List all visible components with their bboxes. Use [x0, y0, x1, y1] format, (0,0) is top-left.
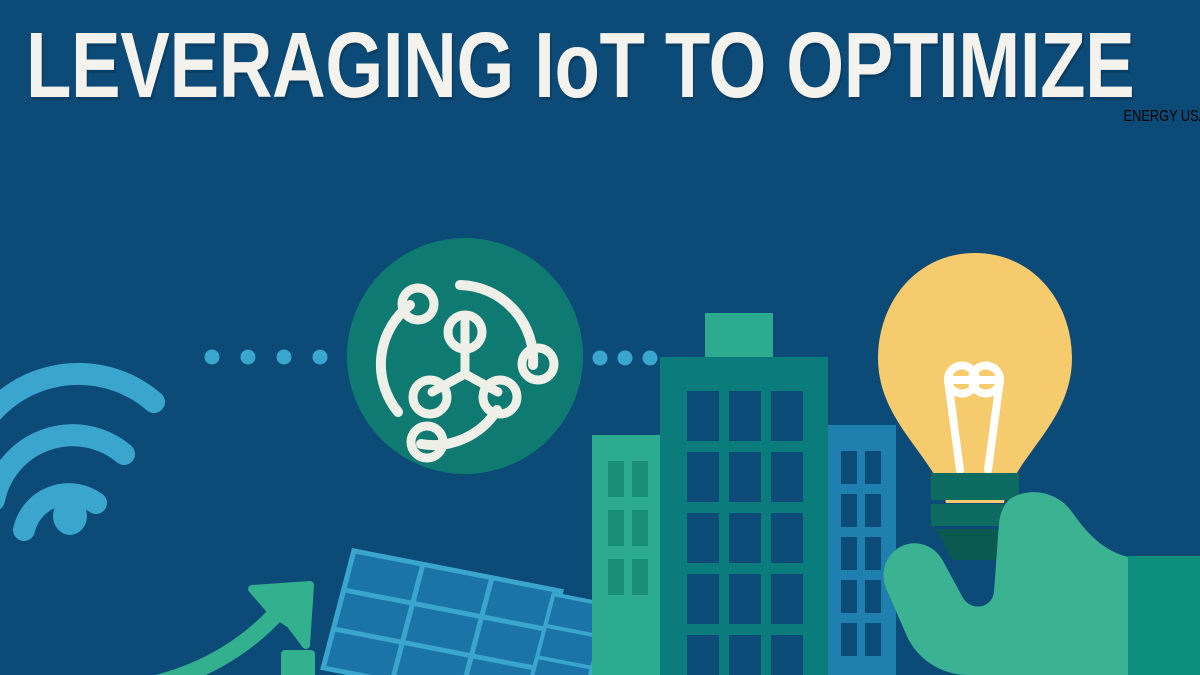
building-left-green: [592, 435, 660, 675]
poster-canvas: LEVERAGING IoT TO OPTIMIZE ENERGY USAGE: [0, 0, 1200, 675]
building-right-blue: [826, 425, 896, 675]
sleeve: [1128, 556, 1200, 675]
rooftop-box: [705, 313, 773, 359]
iot-network-icon: [347, 238, 583, 474]
bulb-base: [931, 473, 1019, 500]
dotted-connector-right-icon: [593, 351, 658, 366]
building-center-teal: [660, 313, 828, 675]
illustration-layer: [0, 0, 1200, 675]
chart-bar-icon: [281, 650, 315, 675]
